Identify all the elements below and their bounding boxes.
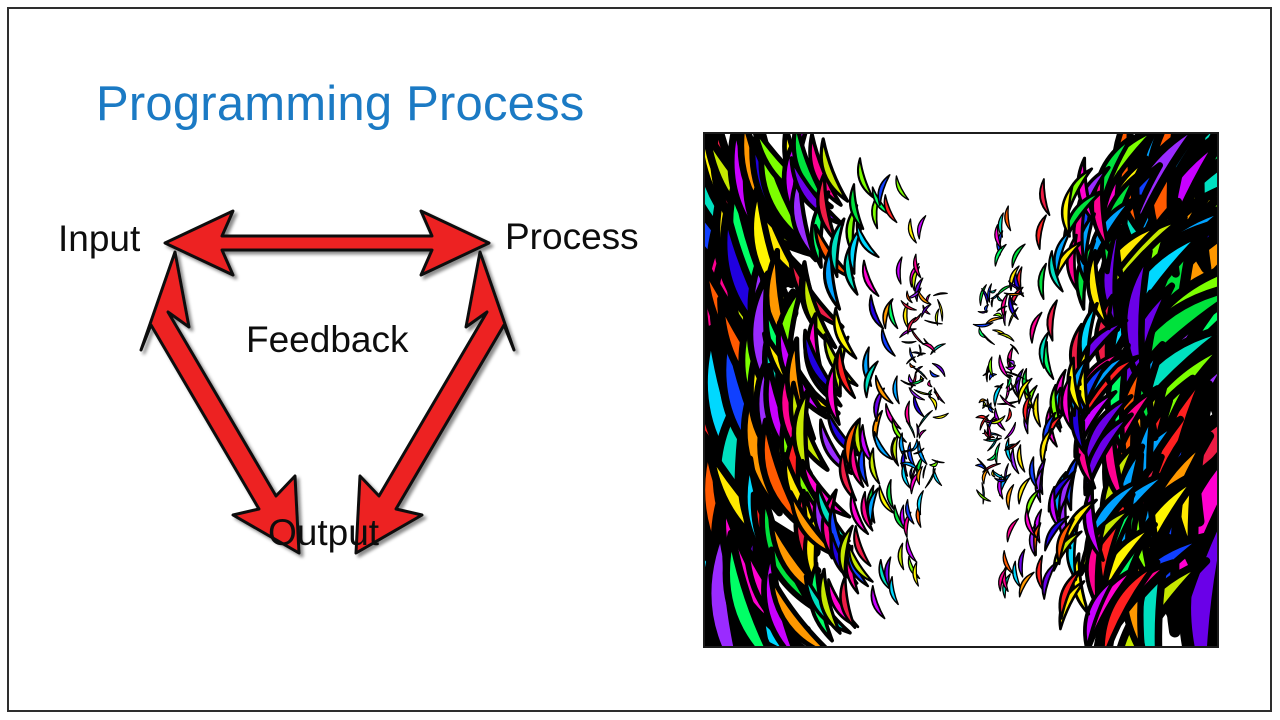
arrow-input-process xyxy=(165,211,489,275)
artwork-image-frame xyxy=(703,132,1219,648)
diagram-label-input: Input xyxy=(58,219,140,259)
diagram-label-output: Output xyxy=(268,513,379,553)
diagram-label-process: Process xyxy=(505,217,639,257)
page-title: Programming Process xyxy=(96,72,585,136)
diagram-label-feedback: Feedback xyxy=(246,320,409,360)
abstract-fractal-artwork xyxy=(705,134,1217,646)
slide-canvas: Programming Process Input Process Feedba… xyxy=(0,0,1280,720)
arrow-output-input xyxy=(141,252,299,553)
programming-process-diagram: Input Process Feedback Output xyxy=(40,195,670,585)
arrow-output-process xyxy=(356,252,514,553)
